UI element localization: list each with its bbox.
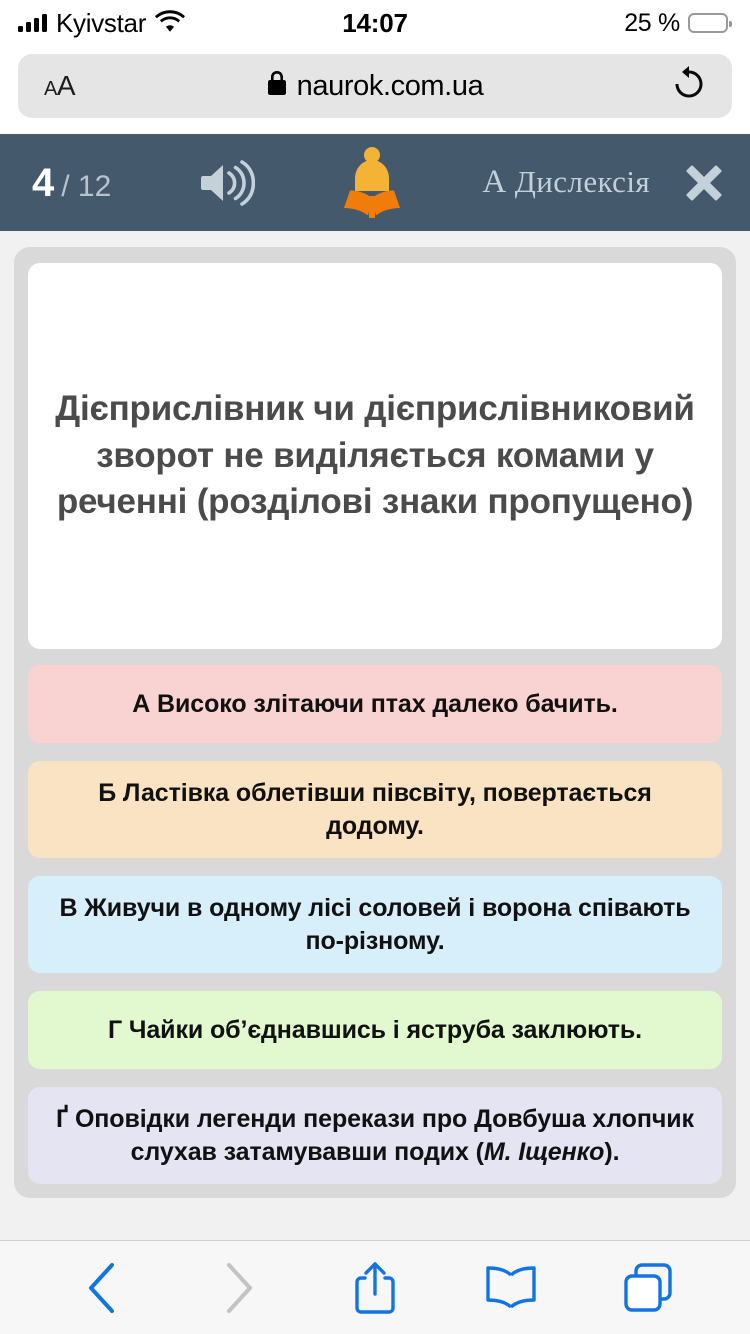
naurok-bell-book-logo-icon[interactable]	[339, 146, 405, 220]
battery-percentage: 25 %	[624, 9, 680, 38]
carrier-name: Kyivstar	[56, 10, 146, 36]
share-icon[interactable]	[343, 1256, 407, 1320]
answer-option-b-text: Б Ластівка облетівши півсвіту, повертаєт…	[50, 777, 700, 842]
battery-icon	[688, 13, 728, 33]
browser-url-bar: AA naurok.com.ua	[0, 46, 750, 134]
current-question-number: 4	[32, 163, 54, 203]
url-display: naurok.com.ua	[18, 71, 732, 102]
dyslexia-label: Дислексія	[515, 164, 650, 199]
answers-list: А Високо злітаючи птах далеко бачить. Б …	[28, 665, 722, 1184]
signal-bars-icon	[18, 14, 47, 32]
answer-option-a-text: А Високо злітаючи птах далеко бачить.	[132, 688, 618, 721]
answer-option-b[interactable]: Б Ластівка облетівши півсвіту, повертаєт…	[28, 761, 722, 858]
url-text: naurok.com.ua	[297, 72, 484, 101]
quiz-header-bar: 4 / 12 A Дислексія	[0, 134, 750, 231]
book-icon[interactable]	[479, 1256, 543, 1320]
quiz-content-area: Дієприслівник чи дієприслівниковий зворо…	[0, 231, 750, 1240]
answer-option-v[interactable]: В Живучи в одному лісі соловей і ворона …	[28, 876, 722, 973]
status-bar-left: Kyivstar	[18, 10, 185, 37]
answer-option-gg[interactable]: Ґ Оповідки легенди перекази про Довбуша …	[28, 1087, 722, 1184]
answer-option-v-text: В Живучи в одному лісі соловей і ворона …	[50, 892, 700, 957]
answer-option-h-text: Г Чайки об’єднавшись і яструба заклюють.	[108, 1014, 642, 1047]
lock-icon	[267, 71, 287, 102]
answer-option-h[interactable]: Г Чайки об’єднавшись і яструба заклюють.	[28, 991, 722, 1069]
url-pill[interactable]: AA naurok.com.ua	[18, 54, 732, 118]
reload-icon[interactable]	[672, 66, 706, 107]
status-bar: Kyivstar 14:07 25 %	[0, 0, 750, 46]
total-questions: / 12	[61, 172, 111, 202]
question-counter: 4 / 12	[32, 163, 111, 203]
dyslexia-mode-toggle[interactable]: A Дислексія	[482, 164, 650, 201]
question-card: Дієприслівник чи дієприслівниковий зворо…	[28, 263, 722, 649]
wifi-icon	[155, 10, 185, 37]
answer-option-a[interactable]: А Високо злітаючи птах далеко бачить.	[28, 665, 722, 743]
answer-option-gg-text: Ґ Оповідки легенди перекази про Довбуша …	[50, 1103, 700, 1168]
tabs-icon[interactable]	[616, 1256, 680, 1320]
chevron-left-icon[interactable]	[70, 1256, 134, 1320]
speaker-icon[interactable]	[199, 160, 255, 206]
chevron-right-icon	[207, 1256, 271, 1320]
phone-screen: Kyivstar 14:07 25 % AA	[0, 0, 750, 1334]
status-bar-right: 25 %	[624, 9, 728, 38]
close-x-icon[interactable]	[680, 159, 728, 207]
dyslexia-mark: A	[482, 164, 506, 200]
quiz-panel: Дієприслівник чи дієприслівниковий зворо…	[14, 247, 736, 1198]
question-text: Дієприслівник чи дієприслівниковий зворо…	[46, 386, 704, 526]
browser-bottom-toolbar	[0, 1240, 750, 1334]
text-size-aa-button[interactable]: AA	[44, 72, 75, 100]
